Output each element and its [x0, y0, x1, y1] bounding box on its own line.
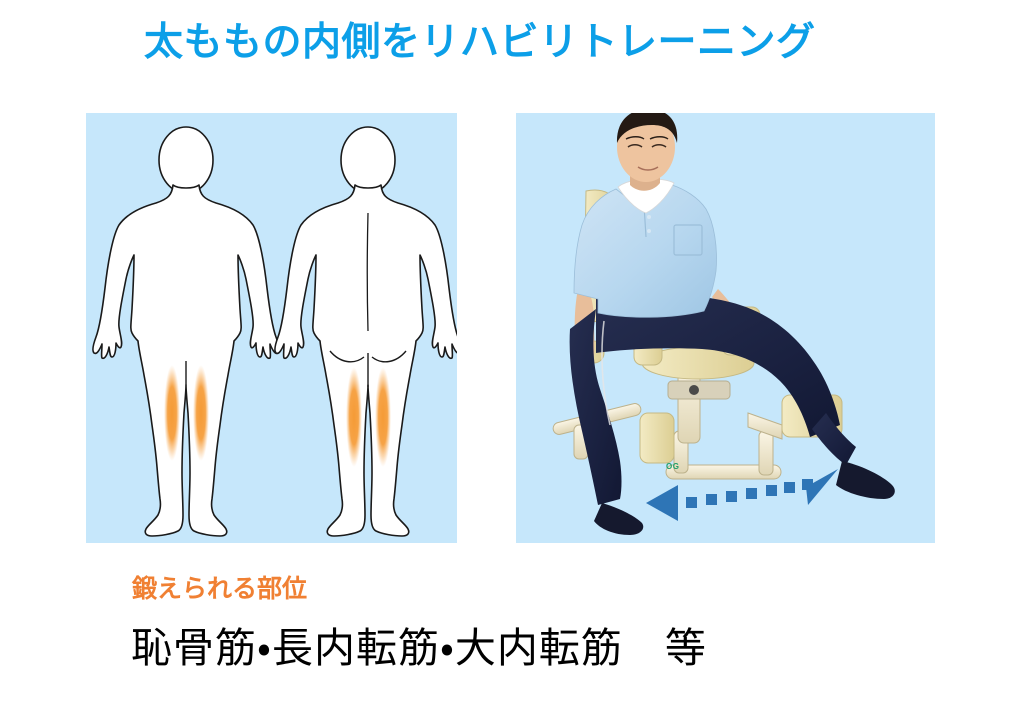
back-left-inner-thigh-highlight	[346, 367, 362, 467]
calf-pad-left	[640, 413, 674, 463]
back-head	[341, 127, 395, 193]
front-right-inner-thigh-highlight	[193, 365, 209, 461]
machine-base-post-right	[759, 431, 773, 475]
back-body-outline	[275, 185, 457, 536]
person-right-foot-sock	[836, 461, 895, 499]
machine-pivot-bolt	[689, 385, 699, 395]
page-title: 太ももの内側をリハビリトレーニング	[144, 22, 816, 65]
anatomy-diagram-panel	[86, 113, 457, 543]
anatomy-diagram-svg	[86, 113, 457, 543]
back-body-figure	[275, 127, 457, 536]
back-right-inner-thigh-highlight	[375, 367, 391, 467]
target-muscles-label: 鍛えられる部位	[132, 575, 307, 604]
exercise-photo-panel: OG	[516, 113, 935, 543]
motion-arrow-dashes	[686, 479, 813, 508]
front-body-figure	[93, 127, 279, 536]
target-muscles-list: 恥骨筋・長内転筋・大内転筋 等	[131, 624, 707, 673]
person-left-foot-sock	[594, 503, 643, 535]
front-left-inner-thigh-highlight	[164, 365, 180, 461]
back-spine-line	[367, 213, 368, 331]
motion-arrow-head-left	[646, 485, 678, 521]
exercise-photo-svg: OG	[516, 113, 935, 543]
machine-brand-logo: OG	[666, 462, 679, 471]
shirt-button-top	[647, 215, 651, 219]
front-body-outline	[93, 185, 279, 536]
shirt-button-bottom	[647, 229, 651, 233]
front-head	[159, 127, 213, 193]
